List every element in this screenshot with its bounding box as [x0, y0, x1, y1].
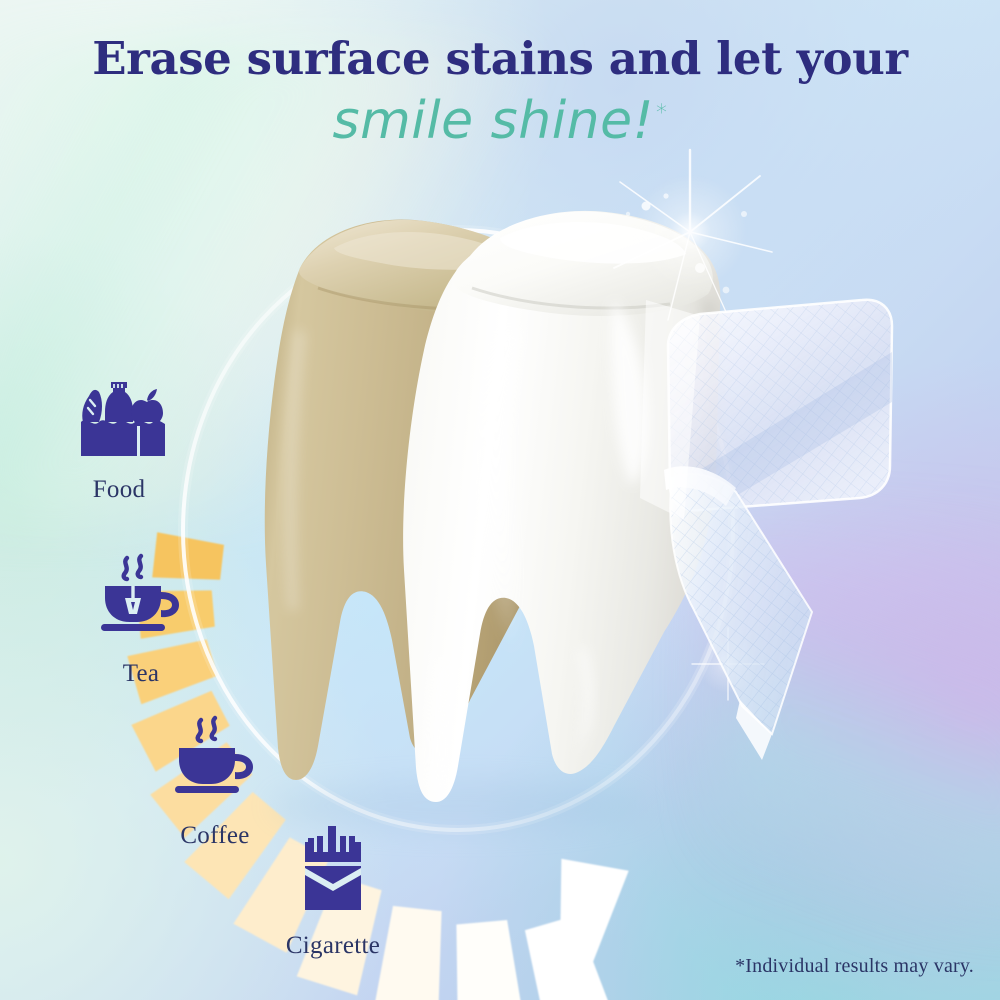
cause-item-cigarette: Cigarette [258, 822, 408, 960]
disclaimer-text: *Individual results may vary. [735, 955, 974, 978]
teacup-icon [66, 550, 216, 650]
stain-causes-list: Food [0, 0, 1000, 1000]
grocery-bag-icon [44, 366, 194, 466]
cause-label-food: Food [44, 476, 194, 504]
cause-label-tea: Tea [66, 660, 216, 688]
coffee-cup-icon [140, 712, 290, 812]
cigarette-pack-icon [258, 822, 408, 922]
cause-item-tea: Tea [66, 550, 216, 688]
cause-label-cigarette: Cigarette [258, 932, 408, 960]
cause-item-food: Food [44, 366, 194, 504]
product-poster: Erase surface stains and let your smile … [0, 0, 1000, 1000]
